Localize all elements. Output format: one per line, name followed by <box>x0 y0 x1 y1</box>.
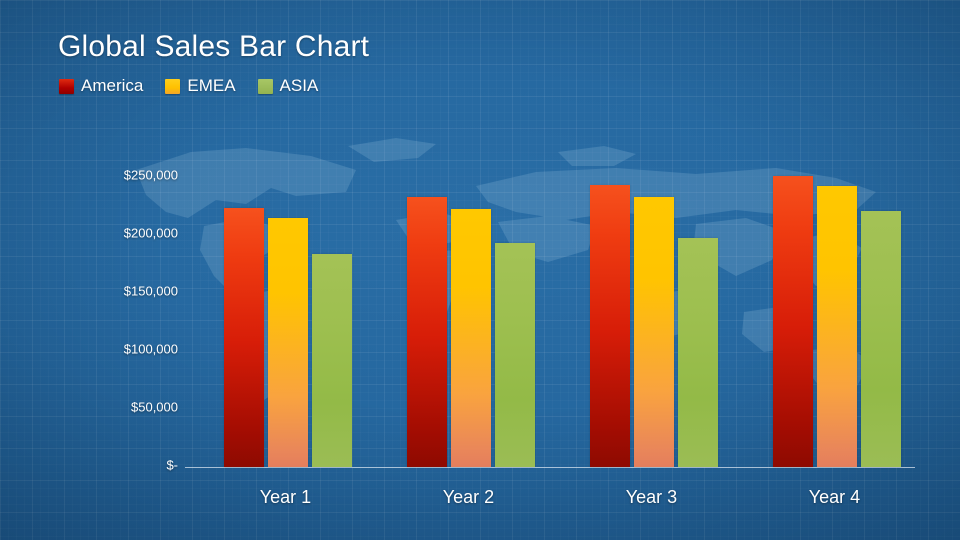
y-axis-tick-150000: $150,000 <box>78 284 178 299</box>
chart-plot-area: $250,000 $200,000 $150,000 $100,000 $50,… <box>0 0 960 540</box>
y-axis-tick-250000: $250,000 <box>78 168 178 183</box>
bar-asia-year-2[interactable] <box>495 243 535 467</box>
x-axis-label-year-4: Year 4 <box>752 487 917 508</box>
y-axis-tick-zero: $- <box>78 458 178 473</box>
y-axis-tick-200000: $200,000 <box>78 226 178 241</box>
bar-asia-year-3[interactable] <box>678 238 718 467</box>
bar-group-year-4: Year 4 <box>752 0 917 540</box>
slide-canvas: Global Sales Bar Chart America EMEA ASIA… <box>0 0 960 540</box>
x-axis-label-year-2: Year 2 <box>386 487 551 508</box>
bar-asia-year-4[interactable] <box>861 211 901 467</box>
bar-group-year-1: Year 1 <box>203 0 368 540</box>
bar-asia-year-1[interactable] <box>312 254 352 467</box>
bar-emea-year-3[interactable] <box>634 197 674 467</box>
bar-emea-year-4[interactable] <box>817 186 857 467</box>
x-axis-label-year-1: Year 1 <box>203 487 368 508</box>
bar-america-year-4[interactable] <box>773 176 813 467</box>
bar-america-year-3[interactable] <box>590 185 630 467</box>
bar-america-year-2[interactable] <box>407 197 447 467</box>
bar-emea-year-2[interactable] <box>451 209 491 467</box>
y-axis-tick-100000: $100,000 <box>78 342 178 357</box>
x-axis-label-year-3: Year 3 <box>569 487 734 508</box>
bar-america-year-1[interactable] <box>224 208 264 467</box>
y-axis-tick-labels: $250,000 $200,000 $150,000 $100,000 $50,… <box>78 0 178 540</box>
bar-emea-year-1[interactable] <box>268 218 308 467</box>
bar-group-year-2: Year 2 <box>386 0 551 540</box>
y-axis-tick-50000: $50,000 <box>78 400 178 415</box>
bar-group-year-3: Year 3 <box>569 0 734 540</box>
